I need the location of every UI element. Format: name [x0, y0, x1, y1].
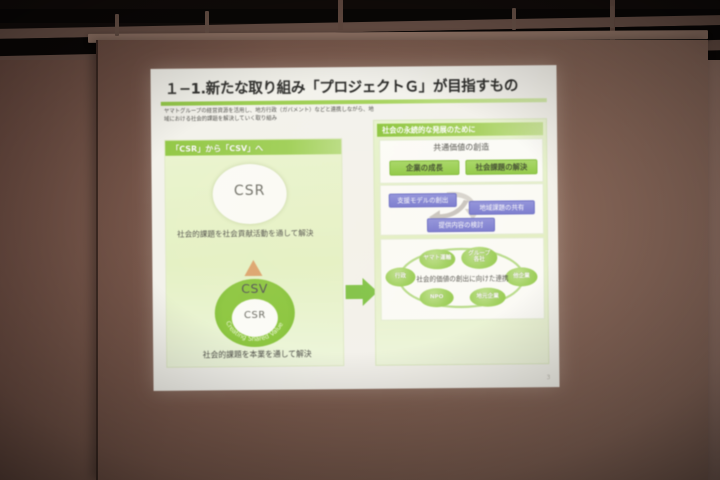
process-cycle-box: 支援モデルの創出 地域課題の共有 提供内容の検討: [380, 183, 544, 236]
value-creation-box: 共通価値の創造 企業の成長 社会課題の解決: [379, 138, 543, 184]
csv-ring: CSV Creating Shared Value CSR: [214, 279, 295, 348]
page-number: 3: [547, 374, 551, 381]
step-support-model: 支援モデルの創出: [389, 193, 457, 208]
screen-left-edge: [96, 40, 98, 480]
left-panel-header: 「CSR」から「CSV」へ: [165, 139, 341, 156]
right-panel-header-label: 社会の永続的な発展のために: [382, 125, 476, 136]
screen-hanger: [610, 6, 614, 28]
right-panel-header: 社会の永続的な発展のために: [377, 122, 543, 137]
pill-social-issue-solution: 社会課題の解決: [465, 159, 537, 175]
cluster-center-label: 社会的価値の創出に向けた連携: [399, 272, 525, 283]
collaboration-cluster-box: 行政 ヤマト運輸 グループ各社 他企業 NPO 地元企業 社会的価値の創出に向け…: [380, 237, 545, 321]
right-arrow-icon: [345, 277, 377, 307]
right-panel: 社会の永続的な発展のために 共通価値の創造 企業の成長 社会課題の解決 支援モデ…: [373, 118, 549, 366]
pill-corporate-growth: 企業の成長: [389, 160, 459, 176]
projected-slide: １−1.新たな取り組み「プロジェクトＧ」が目指すもの ヤマトグループの経営資源を…: [150, 65, 559, 391]
ceiling-post: [338, 0, 343, 30]
step-share-local-issues: 地域課題の共有: [469, 200, 535, 215]
left-panel: 「CSR」から「CSV」へ CSR 社会的課題を社会貢献活動を通して解決 CSV…: [164, 138, 344, 368]
csr-circle-top-label: CSR: [213, 183, 287, 200]
csr-circle-top: CSR: [212, 164, 287, 225]
left-panel-header-label: 「CSR」から「CSV」へ: [171, 142, 263, 154]
left-caption-top: 社会的課題を社会貢献活動を通して解決: [177, 227, 335, 240]
collaboration-cluster: 行政 ヤマト運輸 グループ各社 他企業 NPO 地元企業 社会的価値の創出に向け…: [381, 238, 544, 320]
left-caption-bottom: 社会的課題を本業を通して解決: [176, 348, 338, 361]
screen-hanger: [512, 8, 516, 30]
screen-hanger: [205, 11, 209, 33]
step-review-offering: 提供内容の検討: [427, 218, 495, 233]
value-creation-subtitle: 共通価値の創造: [380, 141, 542, 154]
slide-title: １−1.新たな取り組み「プロジェクトＧ」が目指すもの: [165, 74, 543, 99]
title-underline: [161, 98, 547, 105]
screen-hanger: [115, 14, 119, 36]
csv-inner-label: CSR: [232, 310, 278, 321]
slide-lead-text: ヤマトグループの経営資源を活用し、地方行政（ガバメント）などと連携しながら、地域…: [164, 106, 376, 125]
up-arrow-icon: [244, 260, 262, 276]
